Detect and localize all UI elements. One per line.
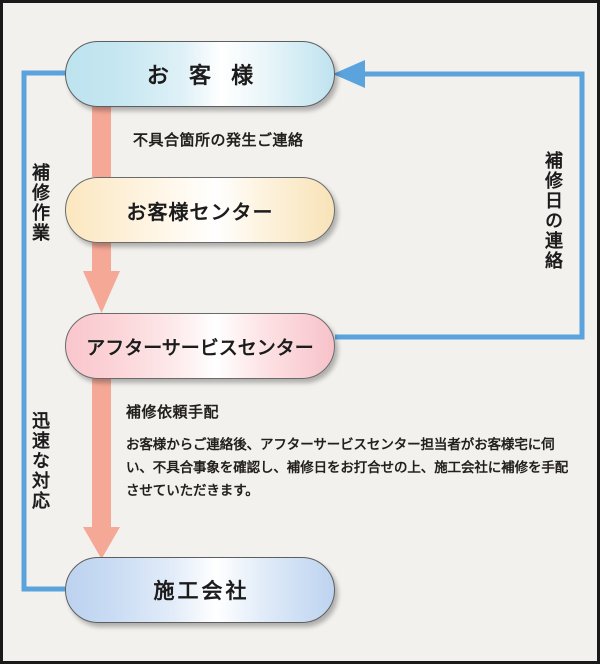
node-builder[interactable]: 施工会社 — [65, 557, 335, 623]
vertical-label-repair-date-contact: 補修日の連絡 — [544, 151, 562, 271]
node-customer-label: お 客 様 — [140, 58, 260, 90]
node-after-service-center-label: アフターサービスセンター — [86, 333, 314, 360]
vertical-label-fast-response: 迅速な対応 — [31, 411, 49, 511]
arrow-afterservice-to-builder — [83, 377, 120, 559]
node-customer-center[interactable]: お客様センター — [65, 177, 335, 243]
flowchart-canvas: お 客 様 お客様センター アフターサービスセンター 施工会社 不具合箇所の発生… — [0, 0, 600, 664]
node-customer[interactable]: お 客 様 — [65, 41, 335, 107]
node-customer-center-label: お客様センター — [127, 196, 274, 225]
node-builder-label: 施工会社 — [151, 575, 250, 605]
vertical-label-repair-work: 補修作業 — [31, 163, 49, 243]
label-defect-report: 不具合箇所の発生ご連絡 — [133, 129, 304, 150]
label-repair-request-body: お客様からご連絡後、アフターサービスセンター担当者がお客様宅に伺い、不具合事象を… — [126, 433, 578, 503]
arrow-customer-to-center — [92, 99, 111, 177]
label-repair-request-heading: 補修依頼手配 — [126, 401, 219, 422]
arrow-center-to-afterservice — [83, 241, 120, 313]
node-after-service-center[interactable]: アフターサービスセンター — [65, 313, 335, 379]
